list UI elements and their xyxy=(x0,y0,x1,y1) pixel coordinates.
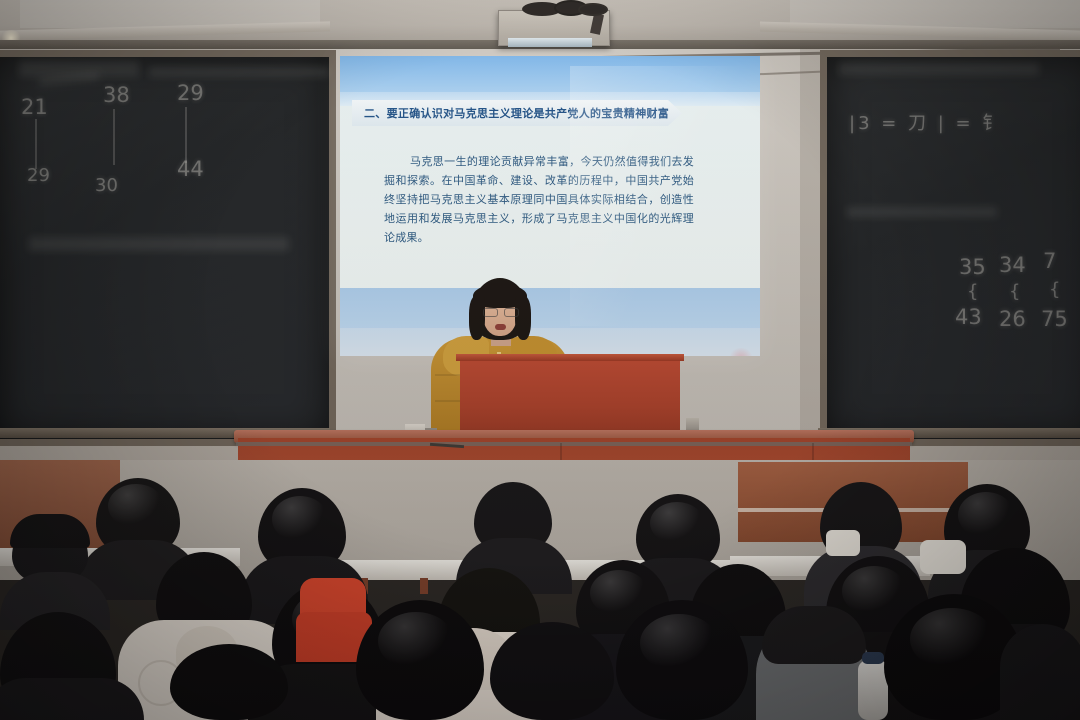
chalk-mark: 29 xyxy=(177,81,204,105)
bench-leg xyxy=(420,578,428,594)
projector-lens xyxy=(508,38,592,47)
projector-cables xyxy=(520,0,610,14)
chalk-mark: 35 xyxy=(959,255,986,279)
chalk-mark: 44 xyxy=(177,157,204,181)
lectern xyxy=(460,358,680,440)
lectern-top-edge xyxy=(456,354,684,361)
presenter-hair-right xyxy=(515,296,531,340)
slide-title-ribbon: 二、要正确认识对马克思主义理论是共产党人的宝贵精神财富 xyxy=(352,100,682,126)
chalk-mark: 29 xyxy=(27,165,50,186)
projector-controls xyxy=(528,28,588,34)
chalk-mark: 75 xyxy=(1041,307,1068,331)
student-body xyxy=(1000,624,1080,720)
chalk-mark: 21 xyxy=(21,95,48,119)
chalk-mark: 34 xyxy=(999,253,1026,277)
bottle-cap-icon xyxy=(862,652,884,664)
presenter-mouth xyxy=(495,324,506,330)
teaching-desk-edge xyxy=(236,442,912,446)
glasses-icon xyxy=(483,308,517,315)
chalk-mark: 26 xyxy=(999,307,1026,331)
chalk-mark: 30 xyxy=(95,175,118,196)
presenter-hair-left xyxy=(469,296,485,340)
slide-title: 二、要正确认识对马克思主义理论是共产党人的宝贵精神财富 xyxy=(352,105,669,121)
slide-band-top xyxy=(340,56,760,92)
chalk-mark: 7 xyxy=(1043,249,1056,273)
student-collar xyxy=(826,530,860,556)
slide-paragraph: 马克思一生的理论贡献异常丰富，今天仍然值得我们去发掘和探索。在中国革命、建设、改… xyxy=(384,152,694,247)
chalk-mark: |3 = 刀 | = 钅 xyxy=(849,109,1003,135)
lecture-hall-photo: 21 38 29 29 30 44 |3 = 刀 | = 钅 35 34 7 {… xyxy=(0,0,1080,720)
right-blackboard: |3 = 刀 | = 钅 35 34 7 { { { 43 26 75 xyxy=(820,50,1080,446)
chalk-mark: 38 xyxy=(103,83,130,107)
student-body xyxy=(0,678,144,720)
left-blackboard: 21 38 29 29 30 44 xyxy=(0,50,336,446)
cap-icon xyxy=(10,514,90,548)
chalk-mark: 43 xyxy=(955,305,982,329)
fur-hood-icon xyxy=(762,606,866,664)
student-collar xyxy=(920,540,966,574)
